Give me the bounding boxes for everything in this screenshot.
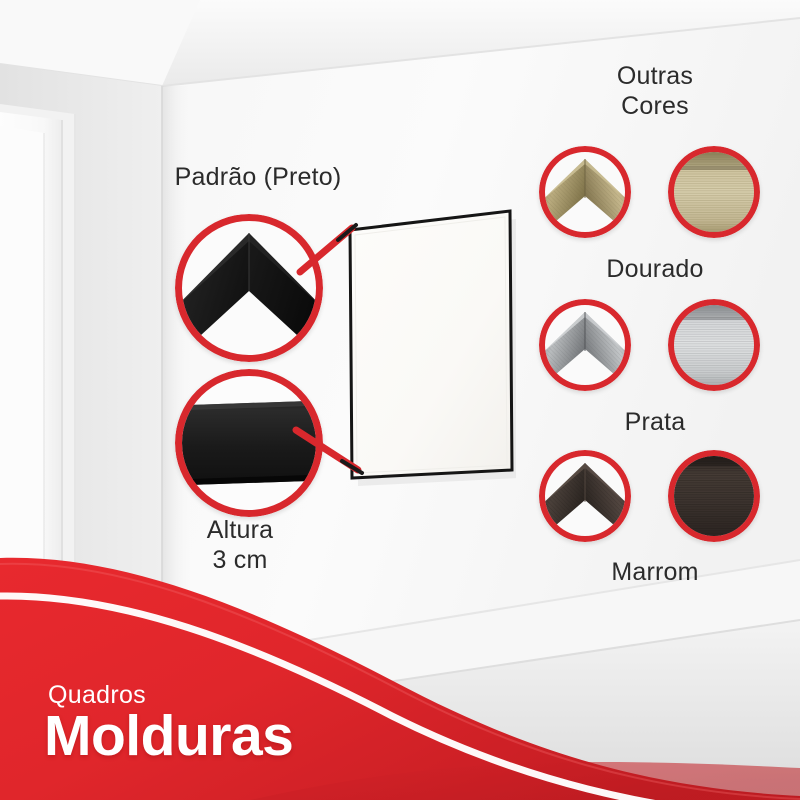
swatch-silver-corner[interactable] (539, 299, 631, 391)
banner-line-molduras: Molduras (44, 703, 293, 769)
label-prata: Prata (545, 408, 765, 438)
swatch-black-profile-inner (182, 376, 316, 510)
swatch-silver-corner-inner (545, 305, 625, 385)
swatch-silver-profile[interactable] (668, 299, 760, 391)
swatch-gold-corner-inner (545, 152, 625, 232)
label-padrao-preto: Padrão (Preto) (118, 163, 398, 193)
swatch-gold-profile[interactable] (668, 146, 760, 238)
swatch-black-profile[interactable] (175, 369, 323, 517)
swatch-gold-corner[interactable] (539, 146, 631, 238)
product-photo-scene: Padrão (Preto) Altura 3 cm Outras Cores … (0, 0, 800, 800)
swatch-gold-profile-inner (674, 152, 754, 232)
swatch-silver-profile-inner (674, 305, 754, 385)
white-picture-frame (344, 208, 516, 486)
swatch-black-corner[interactable] (175, 214, 323, 362)
label-outras-cores: Outras Cores (545, 62, 765, 121)
label-dourado: Dourado (545, 255, 765, 285)
swatch-black-corner-inner (182, 221, 316, 355)
